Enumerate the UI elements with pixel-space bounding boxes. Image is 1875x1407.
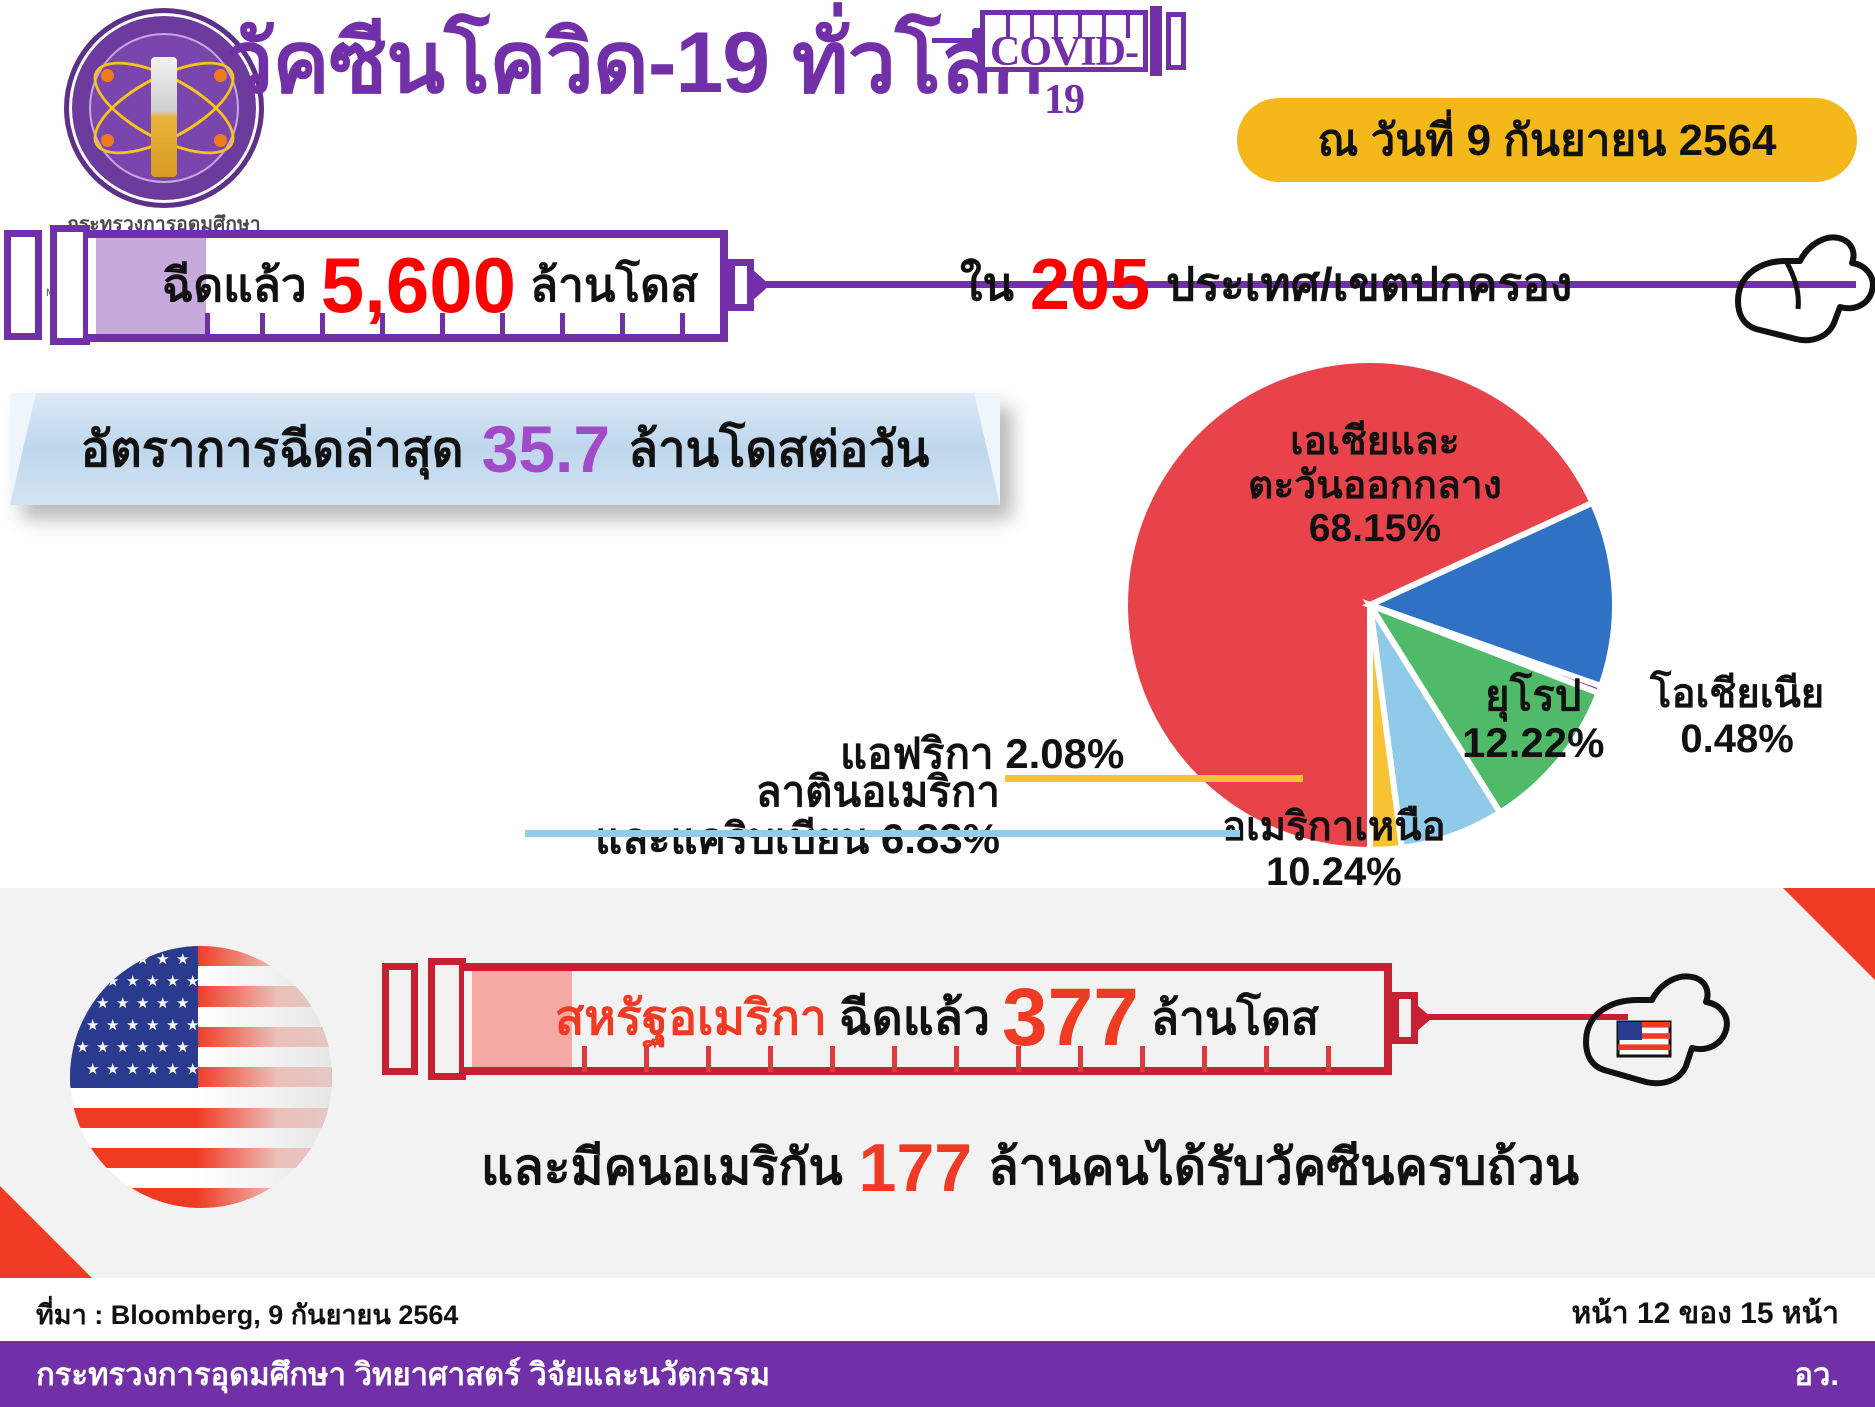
usa-doses-syringe: สหรัฐอเมริกา ฉีดแล้ว 377 ล้านโดส <box>382 958 1502 1080</box>
global-doses-prefix: ฉีดแล้ว <box>162 249 307 322</box>
flag-star-icon: ★ <box>86 1018 99 1033</box>
flag-star-icon: ★ <box>116 952 129 967</box>
usa-doses-value: 377 <box>1002 977 1139 1059</box>
covid-syringe-label: COVID-19 <box>976 28 1152 124</box>
flag-star-icon: ★ <box>76 996 89 1011</box>
flag-star-icon: ★ <box>166 1062 179 1077</box>
pie-label-oceania: โอเชียเนีย 0.48% <box>1650 672 1824 762</box>
daily-rate-suffix: ล้านโดสต่อวัน <box>628 410 929 488</box>
usa-doses-label: สหรัฐอเมริกา ฉีดแล้ว 377 ล้านโดส <box>492 976 1382 1060</box>
pie-label-asia-line2: ตะวันออกกลาง <box>1248 464 1502 508</box>
pie-label-oceania-name: โอเชียเนีย <box>1650 672 1824 717</box>
flag-star-icon: ★ <box>76 952 89 967</box>
flag-star-icon: ★ <box>146 974 159 989</box>
flag-star-icon: ★ <box>126 1062 139 1077</box>
pie-label-latin-america: ลาตินอเมริกา และแคริบเบียน 6.83% <box>530 768 1000 862</box>
flag-star-icon: ★ <box>166 974 179 989</box>
flag-star-icon: ★ <box>116 1040 129 1055</box>
global-doses-value: 5,600 <box>321 246 516 324</box>
usa-section: ★★★★★★★★★★★★★★★★★★★★★★★★★★★★★★★★★★★★ สหร… <box>0 888 1875 1278</box>
flag-star-icon: ★ <box>146 1018 159 1033</box>
pie-label-asia: เอเชียและ ตะวันออกกลาง 68.15% <box>1248 420 1502 551</box>
pie-leader-line-latin-america <box>525 830 1240 837</box>
usa-fully-vaccinated-value: 177 <box>859 1134 972 1202</box>
pie-leader-line-africa <box>1005 775 1303 782</box>
pie-label-asia-line1: เอเชียและ <box>1248 420 1502 464</box>
corner-accent-top-right <box>1783 888 1875 980</box>
flag-star-icon: ★ <box>136 952 149 967</box>
usa-fully-vaccinated-statement: และมีคนอเมริกัน 177 ล้านคนได้รับวัคซีนคร… <box>390 1128 1670 1207</box>
flag-star-icon: ★ <box>96 1040 109 1055</box>
countries-prefix: ใน <box>960 248 1014 321</box>
flag-star-icon: ★ <box>96 996 109 1011</box>
countries-value: 205 <box>1030 249 1150 321</box>
footer-ministry-name: กระทรวงการอุดมศึกษา วิทยาศาสตร์ วิจัยและ… <box>36 1349 770 1399</box>
flag-star-icon: ★ <box>116 996 129 1011</box>
date-badge-text: ณ วันที่ 9 กันยายน 2564 <box>1318 105 1777 175</box>
countries-statement: ใน 205 ประเทศ/เขตปกครอง <box>960 248 1572 321</box>
pie-label-europe: ยุโรป 12.22% <box>1462 672 1604 766</box>
pie-value-asia: 68.15% <box>1248 507 1502 551</box>
daily-rate-banner: อัตราการฉีดล่าสุด 35.7 ล้านโดสต่อวัน <box>10 393 1000 505</box>
flag-star-icon: ★ <box>156 996 169 1011</box>
pie-value-oceania: 0.48% <box>1650 717 1824 762</box>
flag-star-icon: ★ <box>136 996 149 1011</box>
pie-label-europe-name: ยุโรป <box>1462 672 1604 719</box>
flag-star-icon: ★ <box>166 1018 179 1033</box>
flexed-arm-icon <box>1730 205 1875 345</box>
flag-star-icon: ★ <box>156 952 169 967</box>
usa-fully-vaccinated-suffix: ล้านคนได้รับวัคซีนครบถ้วน <box>988 1128 1579 1207</box>
flag-star-icon: ★ <box>176 996 189 1011</box>
pie-label-latin-line2: และแคริบเบียน 6.83% <box>530 815 1000 862</box>
usa-fully-vaccinated-prefix: และมีคนอเมริกัน <box>481 1128 843 1207</box>
daily-rate-value: 35.7 <box>482 416 610 482</box>
flag-star-icon: ★ <box>106 974 119 989</box>
flag-star-icon: ★ <box>106 1018 119 1033</box>
covid-syringe-icon: COVID-19 <box>962 4 1192 86</box>
pie-value-europe: 12.22% <box>1462 719 1604 766</box>
countries-suffix: ประเทศ/เขตปกครอง <box>1166 248 1572 321</box>
daily-rate-prefix: อัตราการฉีดล่าสุด <box>81 410 464 488</box>
usa-flag-icon: ★★★★★★★★★★★★★★★★★★★★★★★★★★★★★★★★★★★★ <box>70 946 332 1208</box>
pie-label-latin-line1: ลาตินอเมริกา <box>530 768 1000 815</box>
flag-star-icon: ★ <box>106 1062 119 1077</box>
date-badge: ณ วันที่ 9 กันยายน 2564 <box>1237 98 1857 182</box>
pie-label-north-america-name: อเมริกาเหนือ <box>1222 805 1446 850</box>
source-text: ที่มา : Bloomberg, 9 กันยายน 2564 <box>36 1293 458 1336</box>
flag-star-icon: ★ <box>86 1062 99 1077</box>
usa-doses-unit: ล้านโดส <box>1151 982 1319 1055</box>
pie-label-north-america: อเมริกาเหนือ 10.24% <box>1222 805 1446 895</box>
flag-star-icon: ★ <box>126 1018 139 1033</box>
usa-doses-verb: ฉีดแล้ว <box>839 980 990 1056</box>
page-title: วัคซีนโควิด-19 ทั่วโลก <box>225 18 1043 108</box>
flag-star-icon: ★ <box>176 1040 189 1055</box>
flag-star-icon: ★ <box>126 974 139 989</box>
footer-abbreviation: อว. <box>1794 1349 1839 1399</box>
footer-bar: กระทรวงการอุดมศึกษา วิทยาศาสตร์ วิจัยและ… <box>0 1341 1875 1407</box>
global-doses-syringe: ฉีดแล้ว 5,600 ล้านโดส <box>0 225 900 347</box>
global-doses-label: ฉีดแล้ว 5,600 ล้านโดส <box>150 245 710 325</box>
page-number-text: หน้า 12 ของ 15 หน้า <box>1571 1290 1839 1337</box>
flag-star-icon: ★ <box>146 1062 159 1077</box>
flag-star-icon: ★ <box>136 1040 149 1055</box>
flag-star-icon: ★ <box>86 974 99 989</box>
flag-star-icon: ★ <box>96 952 109 967</box>
usa-flexed-arm-icon <box>1578 942 1738 1092</box>
usa-country-name: สหรัฐอเมริกา <box>555 980 827 1056</box>
global-doses-suffix: ล้านโดส <box>530 249 698 322</box>
flag-star-icon: ★ <box>176 952 189 967</box>
flag-star-icon: ★ <box>76 1040 89 1055</box>
flag-star-icon: ★ <box>156 1040 169 1055</box>
